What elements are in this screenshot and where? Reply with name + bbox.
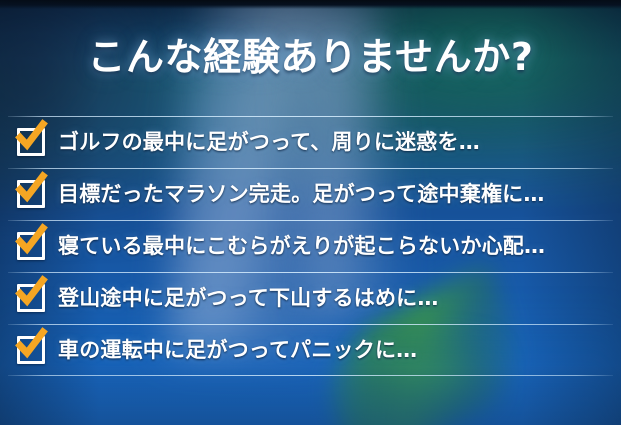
list-item-label: 寝ている最中にこむらがえりが起こらないか心配… bbox=[58, 236, 545, 257]
list-item: 登山途中に足がつって下山するはめに… bbox=[0, 272, 621, 324]
promo-banner: こんな経験ありませんか? ゴルフの最中に足がつって、周りに迷惑を… bbox=[0, 0, 621, 425]
checkbox-checked-icon bbox=[17, 232, 45, 260]
checklist: ゴルフの最中に足がつって、周りに迷惑を… 目標だったマラソン完走。足がつって途中… bbox=[0, 116, 621, 376]
banner-content: こんな経験ありませんか? ゴルフの最中に足がつって、周りに迷惑を… bbox=[0, 0, 621, 425]
checkbox-checked-icon bbox=[17, 128, 45, 156]
list-item-label: 目標だったマラソン完走。足がつって途中棄権に… bbox=[58, 184, 545, 205]
list-item: 車の運転中に足がつってパニックに… bbox=[0, 324, 621, 376]
list-item: ゴルフの最中に足がつって、周りに迷惑を… bbox=[0, 116, 621, 168]
list-item-label: ゴルフの最中に足がつって、周りに迷惑を… bbox=[58, 132, 480, 153]
list-item: 寝ている最中にこむらがえりが起こらないか心配… bbox=[0, 220, 621, 272]
list-item-label: 登山途中に足がつって下山するはめに… bbox=[58, 288, 439, 309]
headline: こんな経験ありませんか? bbox=[0, 38, 621, 76]
checkbox-checked-icon bbox=[17, 336, 45, 364]
checkbox-checked-icon bbox=[17, 180, 45, 208]
list-item: 目標だったマラソン完走。足がつって途中棄権に… bbox=[0, 168, 621, 220]
checkbox-checked-icon bbox=[17, 284, 45, 312]
list-item-label: 車の運転中に足がつってパニックに… bbox=[58, 340, 417, 361]
